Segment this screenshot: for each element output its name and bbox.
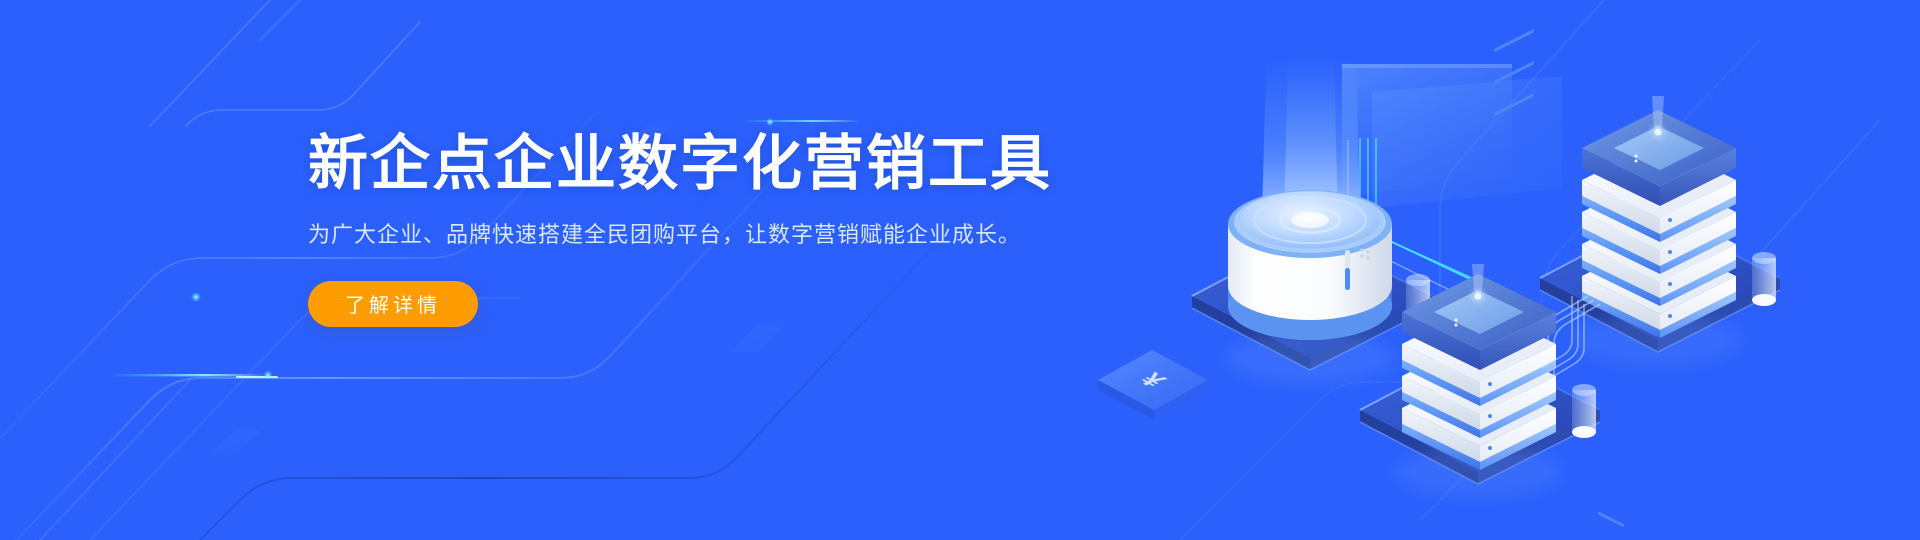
hero-text-block: 新企点企业数字化营销工具 为广大企业、品牌快速搭建全民团购平台，让数字营销赋能企… (308, 132, 1008, 327)
hero-banner: 新企点企业数字化营销工具 为广大企业、品牌快速搭建全民团购平台，让数字营销赋能企… (0, 0, 1920, 540)
page-subtitle: 为广大企业、品牌快速搭建全民团购平台，让数字营销赋能企业成长。 (308, 219, 1008, 251)
yen-coin-tile: ¥ (1098, 350, 1208, 420)
isometric-datacenter-illustration: ¥ (1042, 28, 1842, 528)
learn-more-button[interactable]: 了解详情 (308, 281, 478, 327)
server-stack-right (1582, 28, 1736, 528)
page-title: 新企点企业数字化营销工具 (308, 132, 1008, 197)
platform-post-bottom (1572, 384, 1596, 438)
cylinder-device (1228, 190, 1392, 340)
platform-post-right (1752, 252, 1776, 306)
server-assembly-right (1540, 28, 1780, 528)
